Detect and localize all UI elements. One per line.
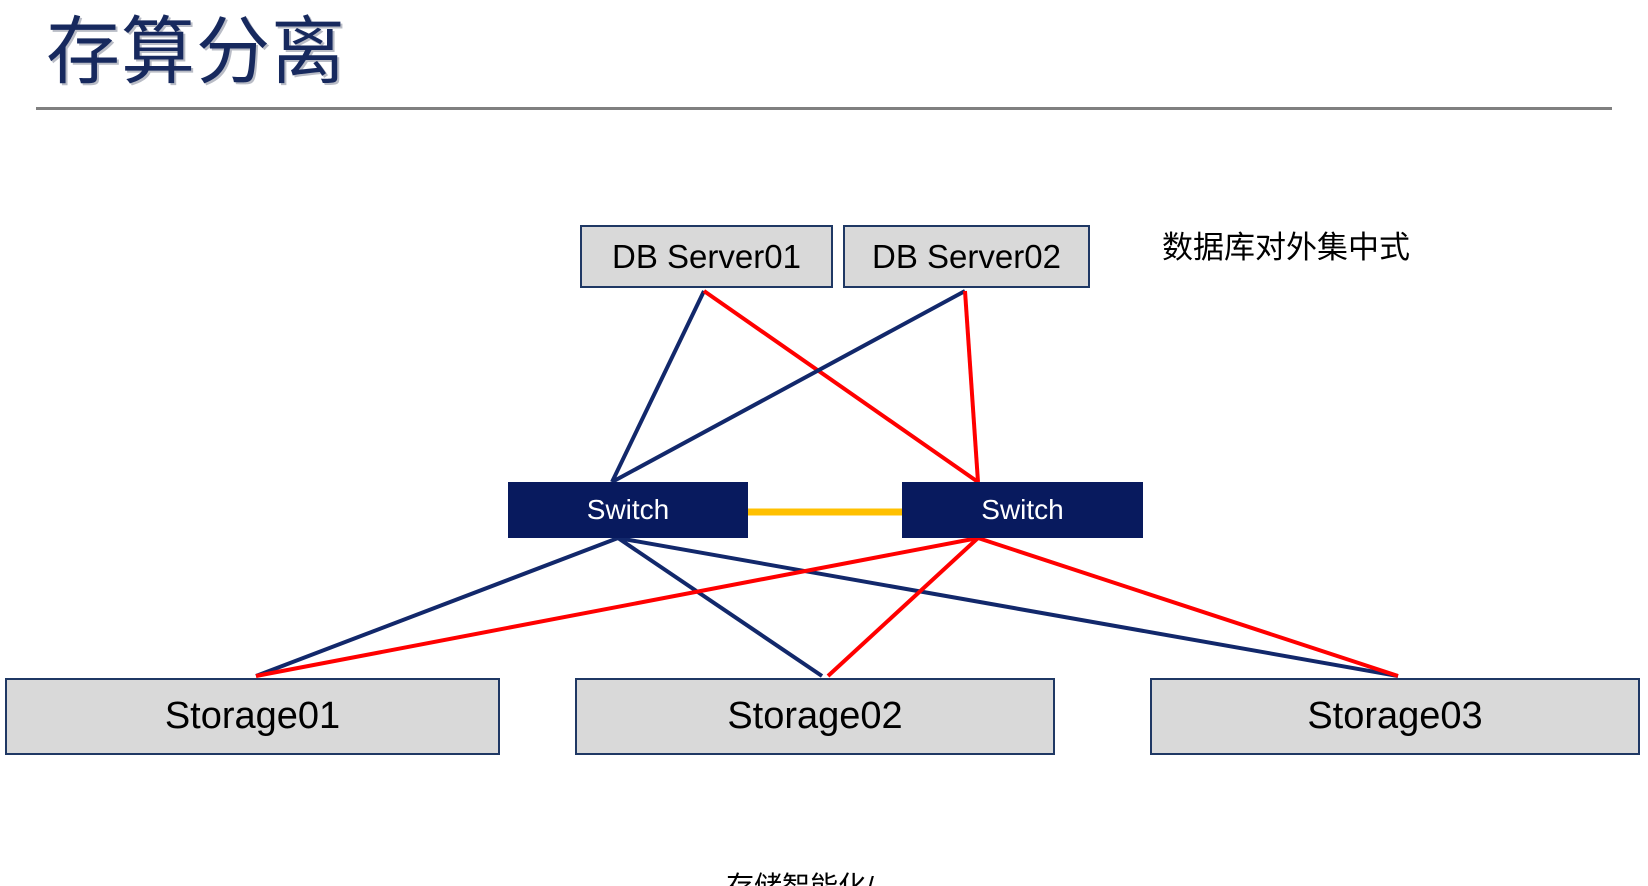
link-switch-left-to-storage-03 [618,538,1398,676]
storage-03-box[interactable]: Storage03 [1150,678,1640,755]
link-db-server-02-to-switch-left [612,291,965,482]
storage-tier-caption: 存储智能化/ 分布式 [640,792,960,886]
db-server-02-box[interactable]: DB Server02 [843,225,1090,288]
link-switch-right-to-storage-01 [256,538,978,676]
storage-01-label: Storage01 [165,695,340,738]
link-switch-left-to-storage-02 [618,538,822,676]
link-db-server-02-to-switch-right [965,291,978,482]
link-db-server-01-to-switch-right [704,291,978,482]
switch-left-label: Switch [587,494,669,526]
switch-left-box[interactable]: Switch [508,482,748,538]
storage-02-box[interactable]: Storage02 [575,678,1055,755]
link-switch-right-to-storage-03 [978,538,1398,676]
db-server-01-box[interactable]: DB Server01 [580,225,833,288]
storage-tier-caption-line1: 存储智能化/ [640,868,960,886]
db-tier-caption: 数据库对外集中式 [1162,228,1410,268]
link-switch-left-to-storage-01 [256,538,618,676]
switch-right-box[interactable]: Switch [902,482,1143,538]
link-switch-right-to-storage-02 [828,538,978,676]
db-server-02-label: DB Server02 [872,238,1061,276]
switch-right-label: Switch [981,494,1063,526]
storage-02-label: Storage02 [727,695,902,738]
slide-canvas: 存算分离 DB Server01 DB Server02 数据库对外集中式 Sw… [0,0,1648,886]
storage-01-box[interactable]: Storage01 [5,678,500,755]
link-db-server-01-to-switch-left [612,291,704,482]
db-server-01-label: DB Server01 [612,238,801,276]
storage-03-label: Storage03 [1307,695,1482,738]
